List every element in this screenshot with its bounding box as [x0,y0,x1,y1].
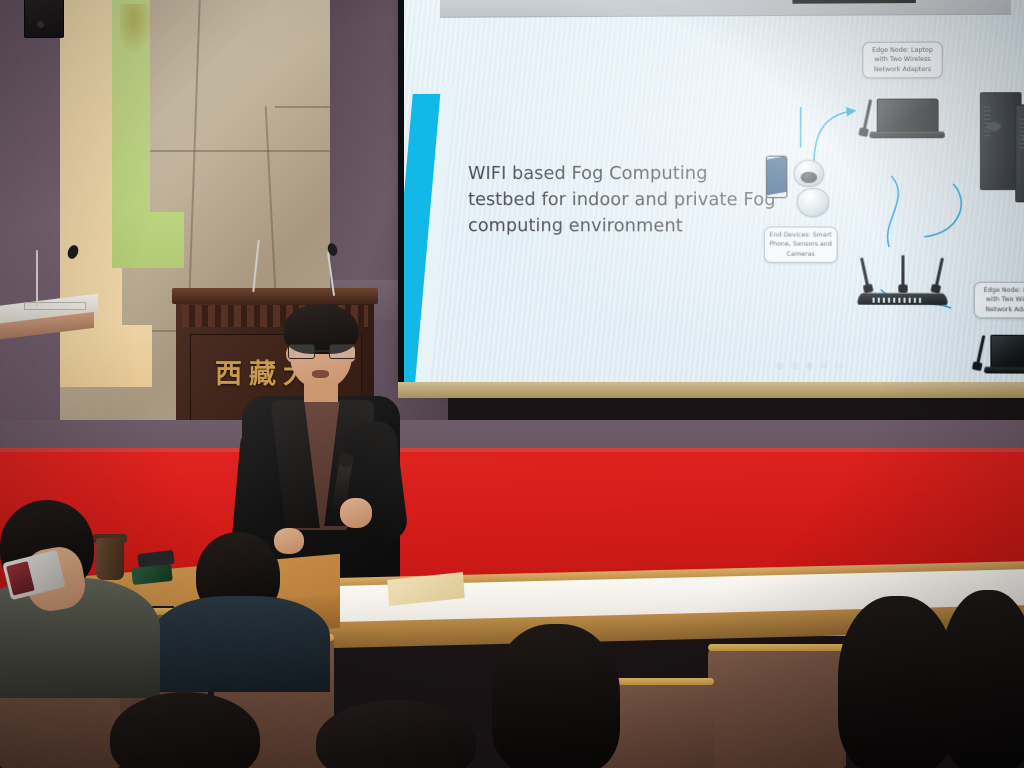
wall-speaker-icon [24,0,64,38]
wall-panel-green-lower [112,212,184,268]
audience-head [316,700,476,768]
lecture-hall-photo: Smart phone Edge server WIFI based Fog C… [0,0,1024,768]
glasses-icon [288,344,356,359]
wall-stain [120,4,154,56]
audience-shoulders [152,596,330,692]
audience-head [492,624,620,768]
screen-bottom-frame [398,382,1024,398]
projection-screen: Smart phone Edge server WIFI based Fog C… [404,0,1024,390]
audience-head [838,596,956,768]
presenter-mouth [312,370,329,378]
auditorium-seat [708,646,846,768]
screen-glare [404,0,1024,390]
wall-panel-cream-lower [60,325,152,387]
audience-head [940,590,1024,768]
presenter-hand-right [340,498,372,528]
lectern-control-strip [24,302,86,310]
coffee-cup [96,538,124,580]
presenter-hand-left [274,528,304,554]
gooseneck-microphone-stem [36,250,38,306]
seat-trim [708,644,846,651]
